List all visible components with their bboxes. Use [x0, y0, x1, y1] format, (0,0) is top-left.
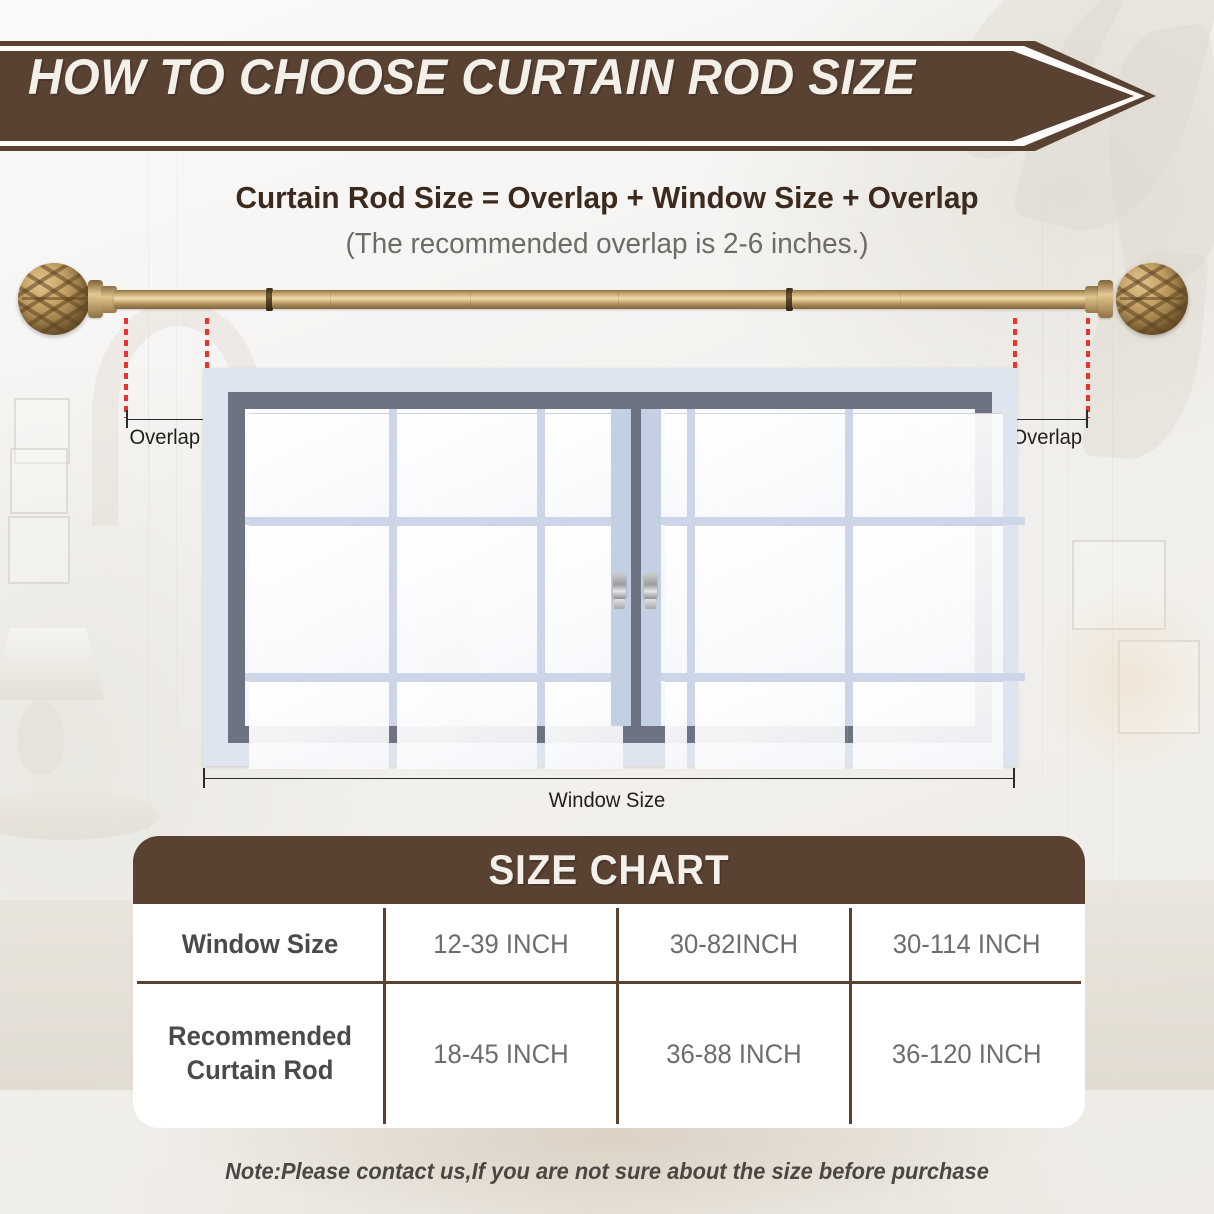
window-pane [695, 525, 845, 673]
rod-grain [470, 292, 471, 307]
window-size-label: Window Size [24, 789, 1189, 813]
window-pane [249, 413, 389, 517]
formula-equation: Curtain Rod Size = Overlap + Window Size… [24, 180, 1189, 216]
table-row: Recommended Curtain Rod 18-45 INCH 36-88… [135, 983, 1083, 1126]
window-pane [695, 681, 845, 769]
size-chart-header: SIZE CHART [133, 836, 1085, 904]
window-mullion-horizontal [245, 517, 627, 525]
table-cell: 36-120 INCH [850, 983, 1083, 1126]
table-cell: 12-39 INCH [385, 906, 618, 983]
size-chart-note: Note:Please contact us,If you are not su… [30, 1158, 1183, 1185]
cell-value: 18-45 INCH [393, 1039, 609, 1070]
lamp-base [18, 700, 64, 774]
window-pane [397, 413, 537, 517]
cell-value: 36-88 INCH [626, 1039, 842, 1070]
rod-shaft-left [114, 290, 274, 309]
window-illustration [203, 368, 1017, 766]
rod-cap-right [1098, 280, 1113, 318]
window-center-post [631, 409, 641, 726]
finial-weave-pattern [18, 263, 90, 335]
window-pane [853, 681, 1003, 769]
window-glass-area [245, 409, 975, 726]
rod-shaft-center [272, 290, 792, 309]
size-chart-title: SIZE CHART [488, 846, 729, 894]
cell-label: Recommended Curtain Rod [144, 1020, 376, 1088]
table-row-header-window-size: Window Size [135, 906, 385, 983]
wall-frame [10, 448, 68, 514]
table-row-header-recommended-rod: Recommended Curtain Rod [135, 983, 385, 1126]
cell-label: Window Size [144, 928, 376, 962]
window-handle-tab-left [614, 599, 625, 609]
window-pane [853, 413, 1003, 517]
page-title: HOW TO CHOOSE CURTAIN ROD SIZE [28, 52, 916, 102]
guide-line-rod-end-left [124, 318, 128, 418]
window-pane [695, 413, 845, 517]
rod-grain [618, 292, 619, 307]
window-mullion-horizontal [245, 673, 627, 681]
window-handle-right[interactable] [644, 573, 657, 599]
window-size-tick-right [1013, 768, 1015, 788]
rod-finial-right [1116, 263, 1188, 335]
guide-line-rod-end-right [1086, 318, 1090, 418]
window-inner-frame [228, 392, 992, 743]
size-chart-table: Window Size 12-39 INCH 30-82INCH 30-114 … [133, 904, 1085, 1128]
rod-grain [330, 292, 331, 307]
wall-frame [8, 516, 70, 584]
lamp-shade [0, 628, 104, 700]
cell-value: 30-114 INCH [858, 929, 1074, 960]
table-cell: 30-114 INCH [850, 906, 1083, 983]
window-size-tick-left [203, 768, 205, 788]
cell-label-line2: Curtain Rod [144, 1054, 376, 1088]
rod-finial-left [18, 263, 90, 335]
overlap-tick-left-a [126, 410, 128, 428]
window-mullion-horizontal [661, 517, 1025, 525]
rod-grain [900, 292, 901, 307]
window-pane [397, 525, 537, 673]
window-size-dimension-line [203, 778, 1015, 779]
rod-shaft-right [792, 290, 1088, 309]
table-cell: 36-88 INCH [617, 983, 850, 1126]
window-sash-right [661, 409, 1025, 726]
window-pane [249, 525, 389, 673]
window-pane [249, 681, 389, 769]
window-mullion-horizontal [661, 673, 1025, 681]
overlap-label-left: Overlap [129, 426, 200, 450]
window-pane [665, 681, 687, 769]
window-handle-tab-right [645, 599, 656, 609]
cell-label-line1: Recommended [144, 1020, 376, 1054]
overlap-tick-right-b [1086, 410, 1088, 428]
size-chart: SIZE CHART Window Size 12-39 INCH 30-82I… [133, 836, 1085, 1128]
window-center-rail-left [611, 409, 631, 726]
finial-weave-pattern [1116, 263, 1188, 335]
window-pane [397, 681, 537, 769]
lamp-glow [1040, 580, 1214, 780]
infographic-canvas: HOW TO CHOOSE CURTAIN ROD SIZE Curtain R… [0, 0, 1214, 1214]
window-pane [853, 525, 1003, 673]
overlap-dimension-line-left [126, 419, 208, 420]
formula-note: (The recommended overlap is 2-6 inches.) [24, 228, 1189, 261]
table-cell: 18-45 INCH [385, 983, 618, 1126]
cell-value: 36-120 INCH [858, 1039, 1074, 1070]
cell-value: 30-82INCH [626, 929, 842, 960]
table-row: Window Size 12-39 INCH 30-82INCH 30-114 … [135, 906, 1083, 983]
table-cell: 30-82INCH [617, 906, 850, 983]
window-center-rail-right [641, 409, 661, 726]
window-handle-left[interactable] [613, 573, 626, 599]
window-pane [665, 525, 687, 673]
window-pane [665, 413, 687, 517]
window-sash-left [245, 409, 627, 726]
curtain-rod [0, 258, 1214, 338]
cell-value: 12-39 INCH [393, 929, 609, 960]
